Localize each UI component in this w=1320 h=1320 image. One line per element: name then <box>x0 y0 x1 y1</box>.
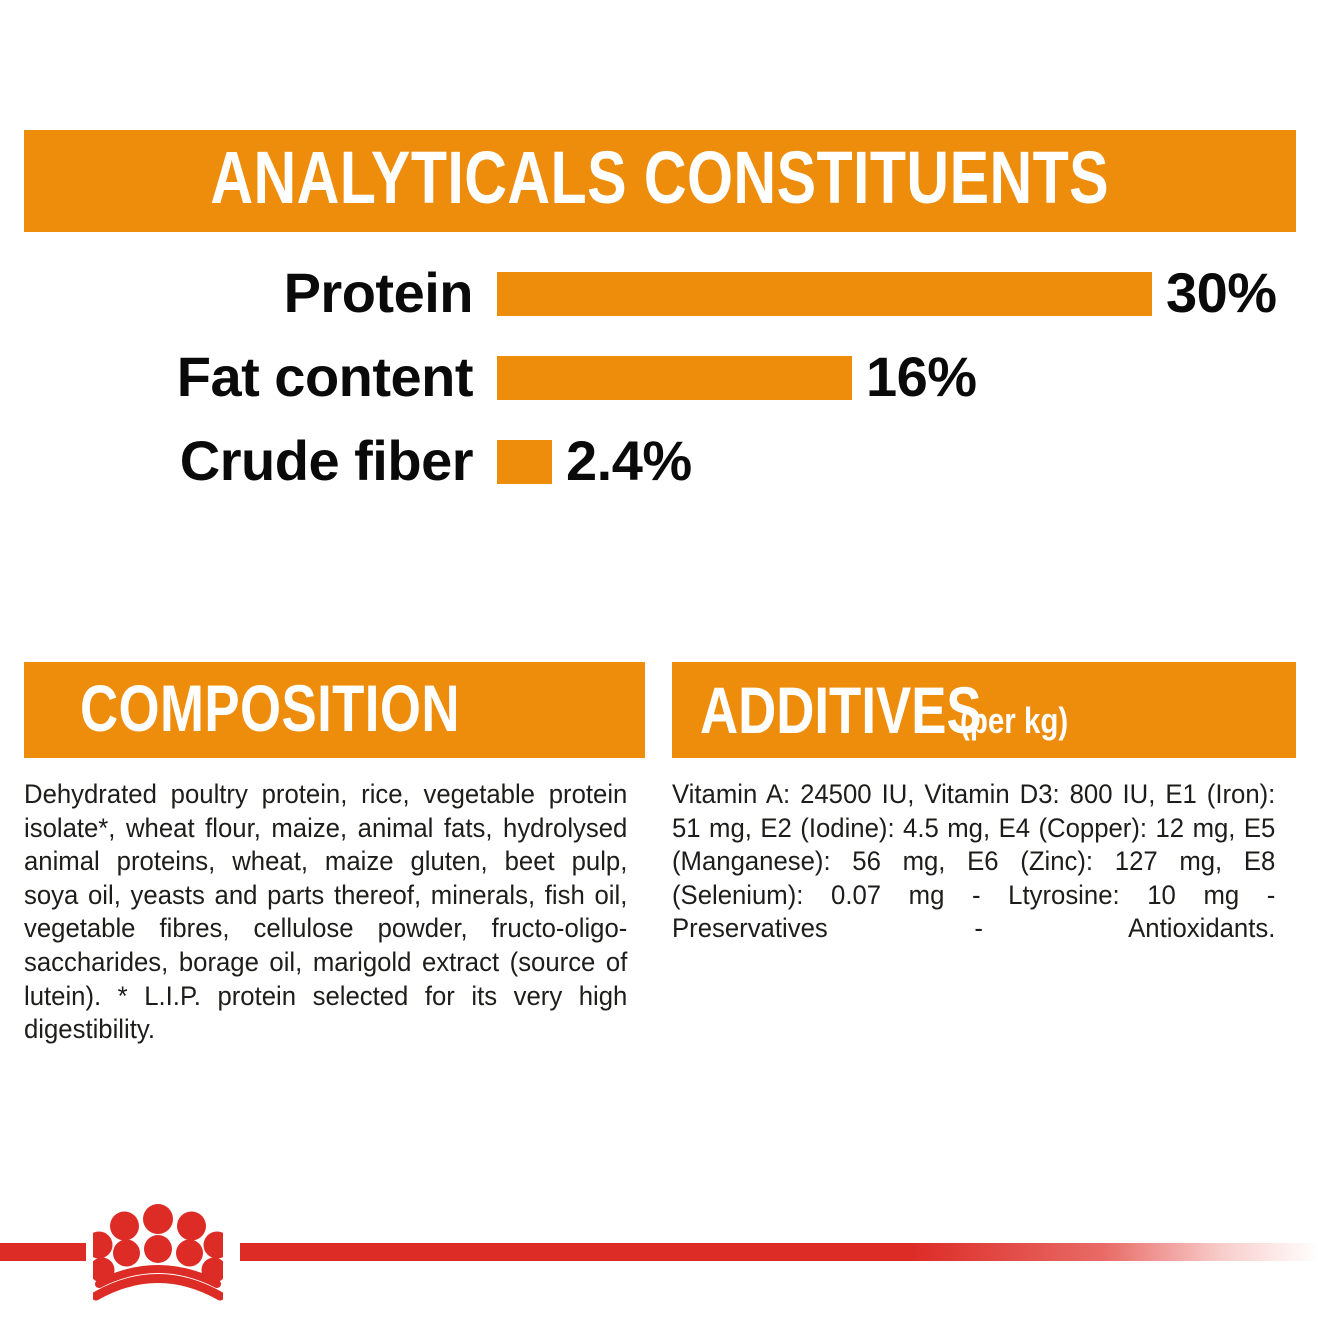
bar-crude-fiber <box>497 440 552 484</box>
footer <box>0 1190 1320 1320</box>
analyticals-bar-chart: Protein 30% Fat content 16% Crude fiber … <box>0 262 1320 504</box>
composition-header-banner: COMPOSITION <box>24 662 645 758</box>
chart-row-crude-fiber: Crude fiber 2.4% <box>0 430 1320 492</box>
bar-protein <box>497 272 1152 316</box>
analyticals-constituents-title: ANALYTICALS CONSTITUENTS <box>211 141 1110 221</box>
footer-rule-left <box>0 1243 86 1261</box>
analyticals-constituents-header-banner: ANALYTICALS CONSTITUENTS <box>24 130 1296 232</box>
additives-body-text: Vitamin A: 24500 IU, Vitamin D3: 800 IU,… <box>672 778 1275 980</box>
composition-title: COMPOSITION <box>80 675 460 746</box>
bar-fat-content <box>497 356 852 400</box>
royal-canin-crown-icon <box>93 1202 223 1302</box>
bar-value-fat-content: 16% <box>866 346 977 408</box>
footer-rule-right <box>240 1243 1320 1261</box>
additives-title: ADDITIVES <box>700 662 982 758</box>
bar-label-crude-fiber: Crude fiber <box>0 430 473 492</box>
bar-value-protein: 30% <box>1166 262 1277 324</box>
composition-body-text: Dehydrated poultry protein, rice, vegeta… <box>24 778 627 1080</box>
bar-value-crude-fiber: 2.4% <box>566 430 692 492</box>
additives-per-kg-note: (per kg) <box>960 673 1068 769</box>
chart-row-protein: Protein 30% <box>0 262 1320 324</box>
bar-label-protein: Protein <box>0 262 473 324</box>
product-info-page: ANALYTICALS CONSTITUENTS Protein 30% Fat… <box>0 0 1320 1320</box>
bar-label-fat-content: Fat content <box>0 346 473 408</box>
additives-header-banner: ADDITIVES (per kg) <box>672 662 1296 758</box>
chart-row-fat-content: Fat content 16% <box>0 346 1320 408</box>
